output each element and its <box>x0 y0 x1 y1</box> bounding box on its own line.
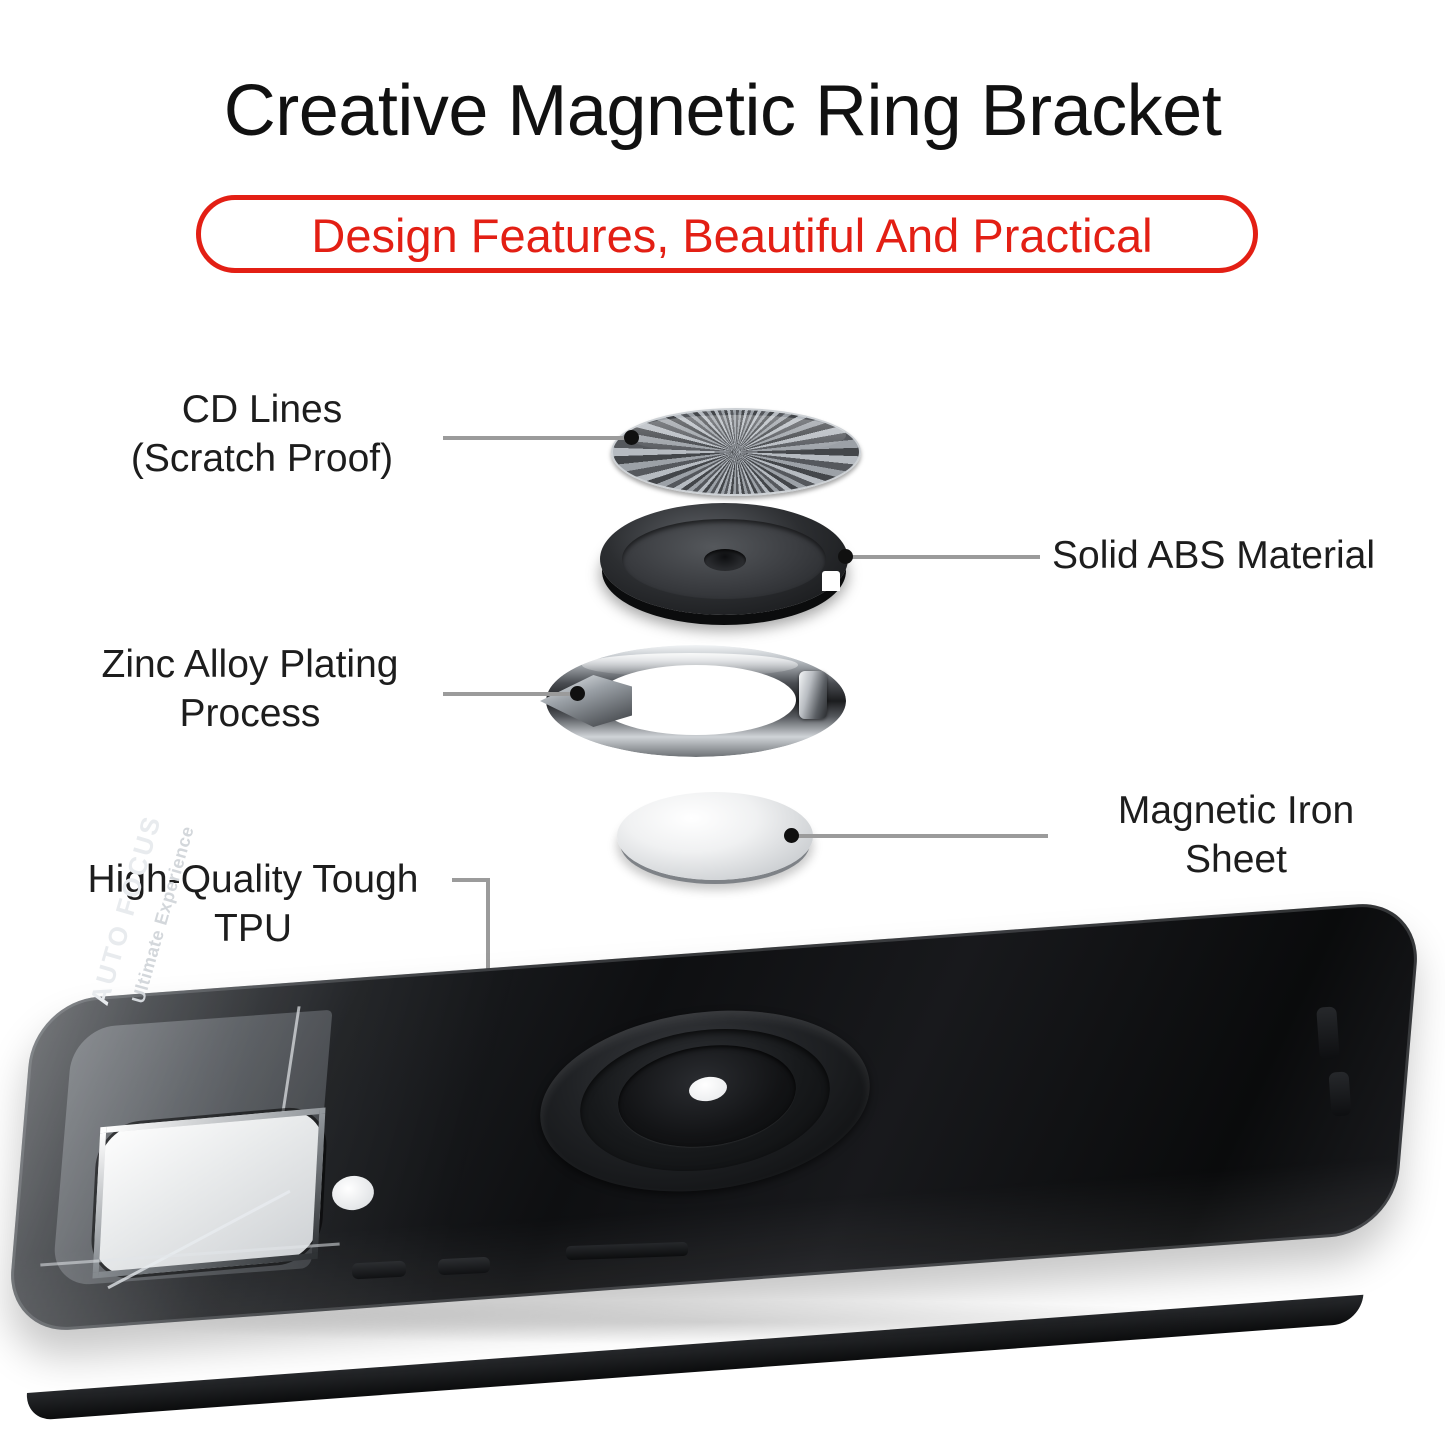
anchor-dot-cd-lines <box>624 430 639 445</box>
case-right-button-upper <box>1316 1006 1340 1059</box>
anchor-dot-solid-abs <box>838 549 853 564</box>
callout-label-cd-lines: CD Lines (Scratch Proof) <box>86 385 438 483</box>
abs-tab-notch <box>822 571 840 591</box>
infographic-page: Creative Magnetic Ring Bracket Design Fe… <box>0 0 1445 1445</box>
case-right-button-lower <box>1328 1071 1351 1116</box>
leader-line-cd-lines <box>443 436 629 440</box>
black-abs-base <box>600 503 868 627</box>
ring-pointed-end <box>540 675 632 727</box>
callout-label-magnetic-sheet: Magnetic Iron Sheet <box>1060 786 1412 884</box>
callout-label-solid-abs: Solid ABS Material <box>1052 531 1432 580</box>
disc-sheen <box>626 415 846 455</box>
subtitle-badge: Design Features, Beautiful And Practical <box>196 195 1258 273</box>
callout-label-zinc-alloy: Zinc Alloy Plating Process <box>60 640 440 738</box>
brushed-metal-disc <box>611 408 861 496</box>
case-volume-button-cutout <box>352 1261 407 1280</box>
leader-line-tpu-horizontal <box>452 878 490 882</box>
case-power-button-cutout <box>438 1257 491 1276</box>
leader-line-solid-abs <box>848 555 1040 559</box>
chrome-finger-ring <box>546 645 846 760</box>
abs-center-hole <box>704 549 746 571</box>
ring-hinge <box>799 671 827 719</box>
anchor-dot-magnetic-sheet <box>784 828 799 843</box>
page-title: Creative Magnetic Ring Bracket <box>0 70 1445 152</box>
leader-line-magnetic-sheet <box>793 834 1048 838</box>
leader-line-zinc-alloy <box>443 692 578 696</box>
anchor-dot-zinc-alloy <box>570 686 585 701</box>
case-drop-shadow <box>120 1300 1300 1344</box>
subtitle-text: Design Features, Beautiful And Practical <box>201 200 1263 278</box>
disc-face <box>611 408 861 496</box>
